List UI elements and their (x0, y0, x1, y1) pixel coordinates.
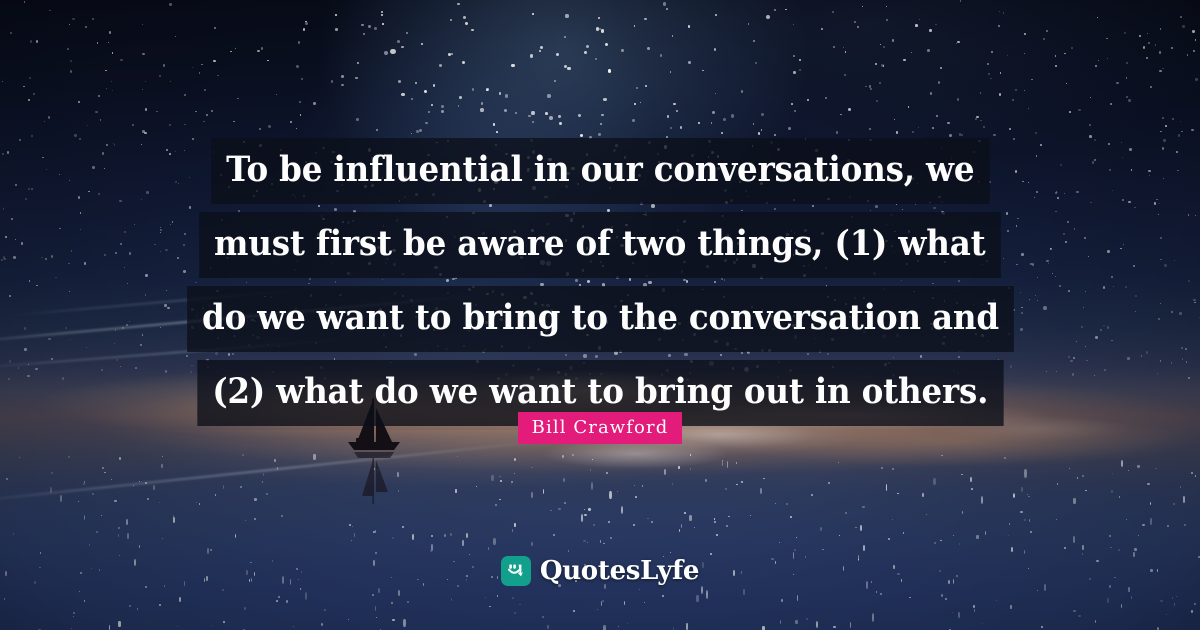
quote-smiley-icon (501, 556, 531, 586)
quote-line-text: To be influential in our conversations, … (211, 138, 989, 204)
quote-line-text: must first be aware of two things, (1) w… (199, 212, 1000, 278)
quote-line: must first be aware of two things, (1) w… (0, 212, 1200, 278)
author-name-badge: Bill Crawford (518, 412, 683, 444)
brand-wordmark: QuotesLyfe (540, 556, 699, 586)
quote-image-canvas: To be influential in our conversations, … (0, 0, 1200, 630)
quote-line: do we want to bring to the conversation … (0, 286, 1200, 352)
brand-footer: QuotesLyfe (0, 556, 1200, 586)
quote-line-text: do we want to bring to the conversation … (187, 286, 1014, 352)
quote-text-block: To be influential in our conversations, … (0, 138, 1200, 426)
author-attribution: Bill Crawford (0, 412, 1200, 444)
quote-line: To be influential in our conversations, … (0, 138, 1200, 204)
